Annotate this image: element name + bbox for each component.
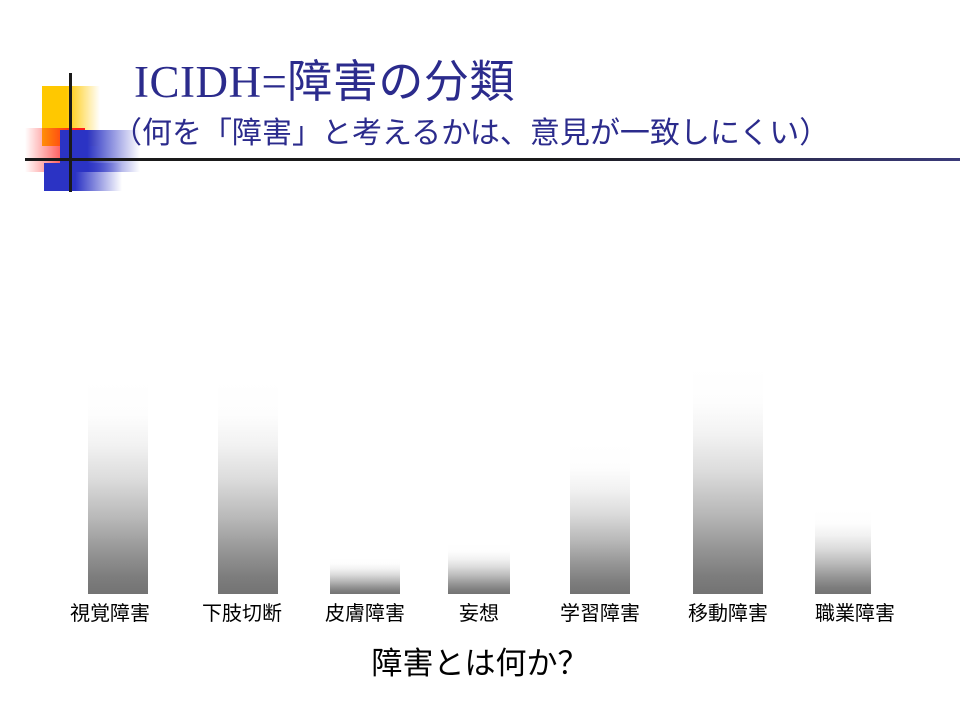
bar: [330, 558, 400, 594]
bar: [570, 444, 630, 594]
bar-chart: 視覚障害下肢切断皮膚障害妄想学習障害移動障害職業障害 障害とは何か？: [0, 200, 960, 720]
slide-subtitle: （何を「障害」と考えるかは、意見が一致しにくい）: [112, 116, 829, 152]
slide-title: ICIDH=障害の分類: [134, 56, 515, 108]
bar: [815, 510, 871, 594]
logo-vertical-line-icon: [69, 73, 72, 192]
slide-header: ICIDH=障害の分類 （何を「障害」と考えるかは、意見が一致しにくい）: [0, 0, 960, 200]
bar: [448, 544, 510, 594]
bar: [88, 381, 148, 594]
title-divider: [35, 158, 960, 161]
bar: [218, 381, 278, 594]
chart-caption: 障害とは何か？: [0, 644, 960, 684]
chart-plot-area: [0, 200, 960, 594]
logo-blue-foot-icon: [44, 163, 122, 191]
bar: [693, 367, 763, 594]
axis-label: 職業障害: [775, 600, 935, 628]
chart-category-axis: 視覚障害下肢切断皮膚障害妄想学習障害移動障害職業障害: [0, 600, 960, 634]
